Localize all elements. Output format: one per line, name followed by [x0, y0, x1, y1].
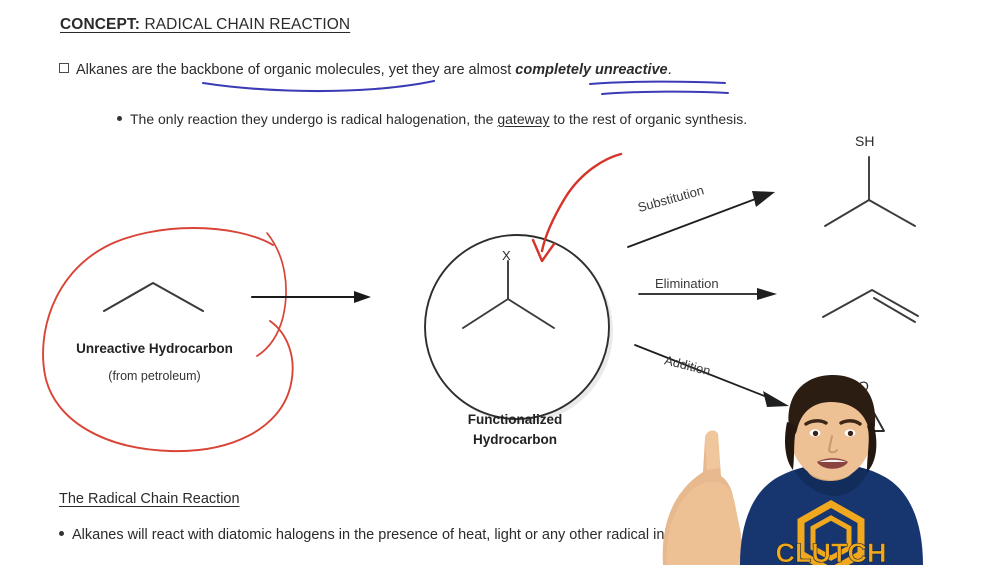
bullet-item-2: The only reaction they undergo is radica… [117, 111, 747, 128]
label-elimination: Elimination [655, 276, 719, 291]
section-heading-radical-chain-reaction: The Radical Chain Reaction [59, 491, 240, 507]
label-from-petroleum: (from petroleum) [57, 369, 252, 383]
bullet-1-seg-1: Alkanes are the backbone of organic mole… [76, 62, 515, 78]
dot-bullet-icon-2 [59, 531, 64, 536]
page-title: CONCEPT: RADICAL CHAIN REACTION [60, 16, 350, 34]
functionalized-hydrocarbon-circle [418, 228, 618, 428]
bullet-2-seg-gateway: gateway [497, 111, 549, 127]
red-circle-annotation [35, 225, 345, 455]
structure-thiol-product [815, 155, 925, 230]
red-pointer-arrow [495, 148, 635, 273]
presenter-video-overlay: CLUTCH [645, 372, 1000, 565]
atom-label-sh: SH [855, 133, 874, 149]
bullet-item-3: Alkanes will react with diatomic halogen… [59, 527, 703, 543]
label-functionalized-line1: Functionalized [468, 412, 563, 427]
bullet-item-1: Alkanes are the backbone of organic mole… [59, 62, 672, 79]
label-substitution: Substitution [636, 182, 705, 215]
square-bullet-icon [59, 63, 69, 73]
ink-underline-backbone [200, 78, 440, 96]
main-reaction-arrow [250, 288, 375, 308]
bullet-3-text: Alkanes will react with diatomic halogen… [72, 527, 703, 543]
lecture-slide: CONCEPT: RADICAL CHAIN REACTION Alkanes … [0, 0, 1000, 565]
bullet-1-seg-3: . [668, 62, 672, 78]
structure-unreactive-hydrocarbon [100, 278, 210, 318]
structure-functionalized-hydrocarbon [455, 258, 565, 343]
label-unreactive-hydrocarbon: Unreactive Hydrocarbon [57, 341, 252, 356]
bullet-2-seg-1: The only reaction they undergo is radica… [130, 111, 497, 127]
atom-label-x: X [502, 248, 511, 263]
page-title-text: RADICAL CHAIN REACTION [140, 16, 350, 33]
label-functionalized-hydrocarbon: Functionalized Hydrocarbon [420, 410, 610, 449]
page-title-label: CONCEPT: [60, 16, 140, 33]
ink-underline-unreactive [588, 78, 733, 102]
presenter-head [785, 375, 876, 480]
dot-bullet-icon [117, 116, 122, 121]
label-functionalized-line2: Hydrocarbon [473, 432, 557, 447]
clutch-logo-text: CLUTCH [776, 538, 887, 565]
bullet-2-seg-3: to the rest of organic synthesis. [550, 111, 748, 127]
bullet-1-seg-emphasis: completely unreactive [515, 62, 667, 78]
presenter-hand [663, 431, 742, 565]
structure-alkene-product [818, 285, 928, 325]
presenter-figure: CLUTCH [645, 372, 1000, 565]
